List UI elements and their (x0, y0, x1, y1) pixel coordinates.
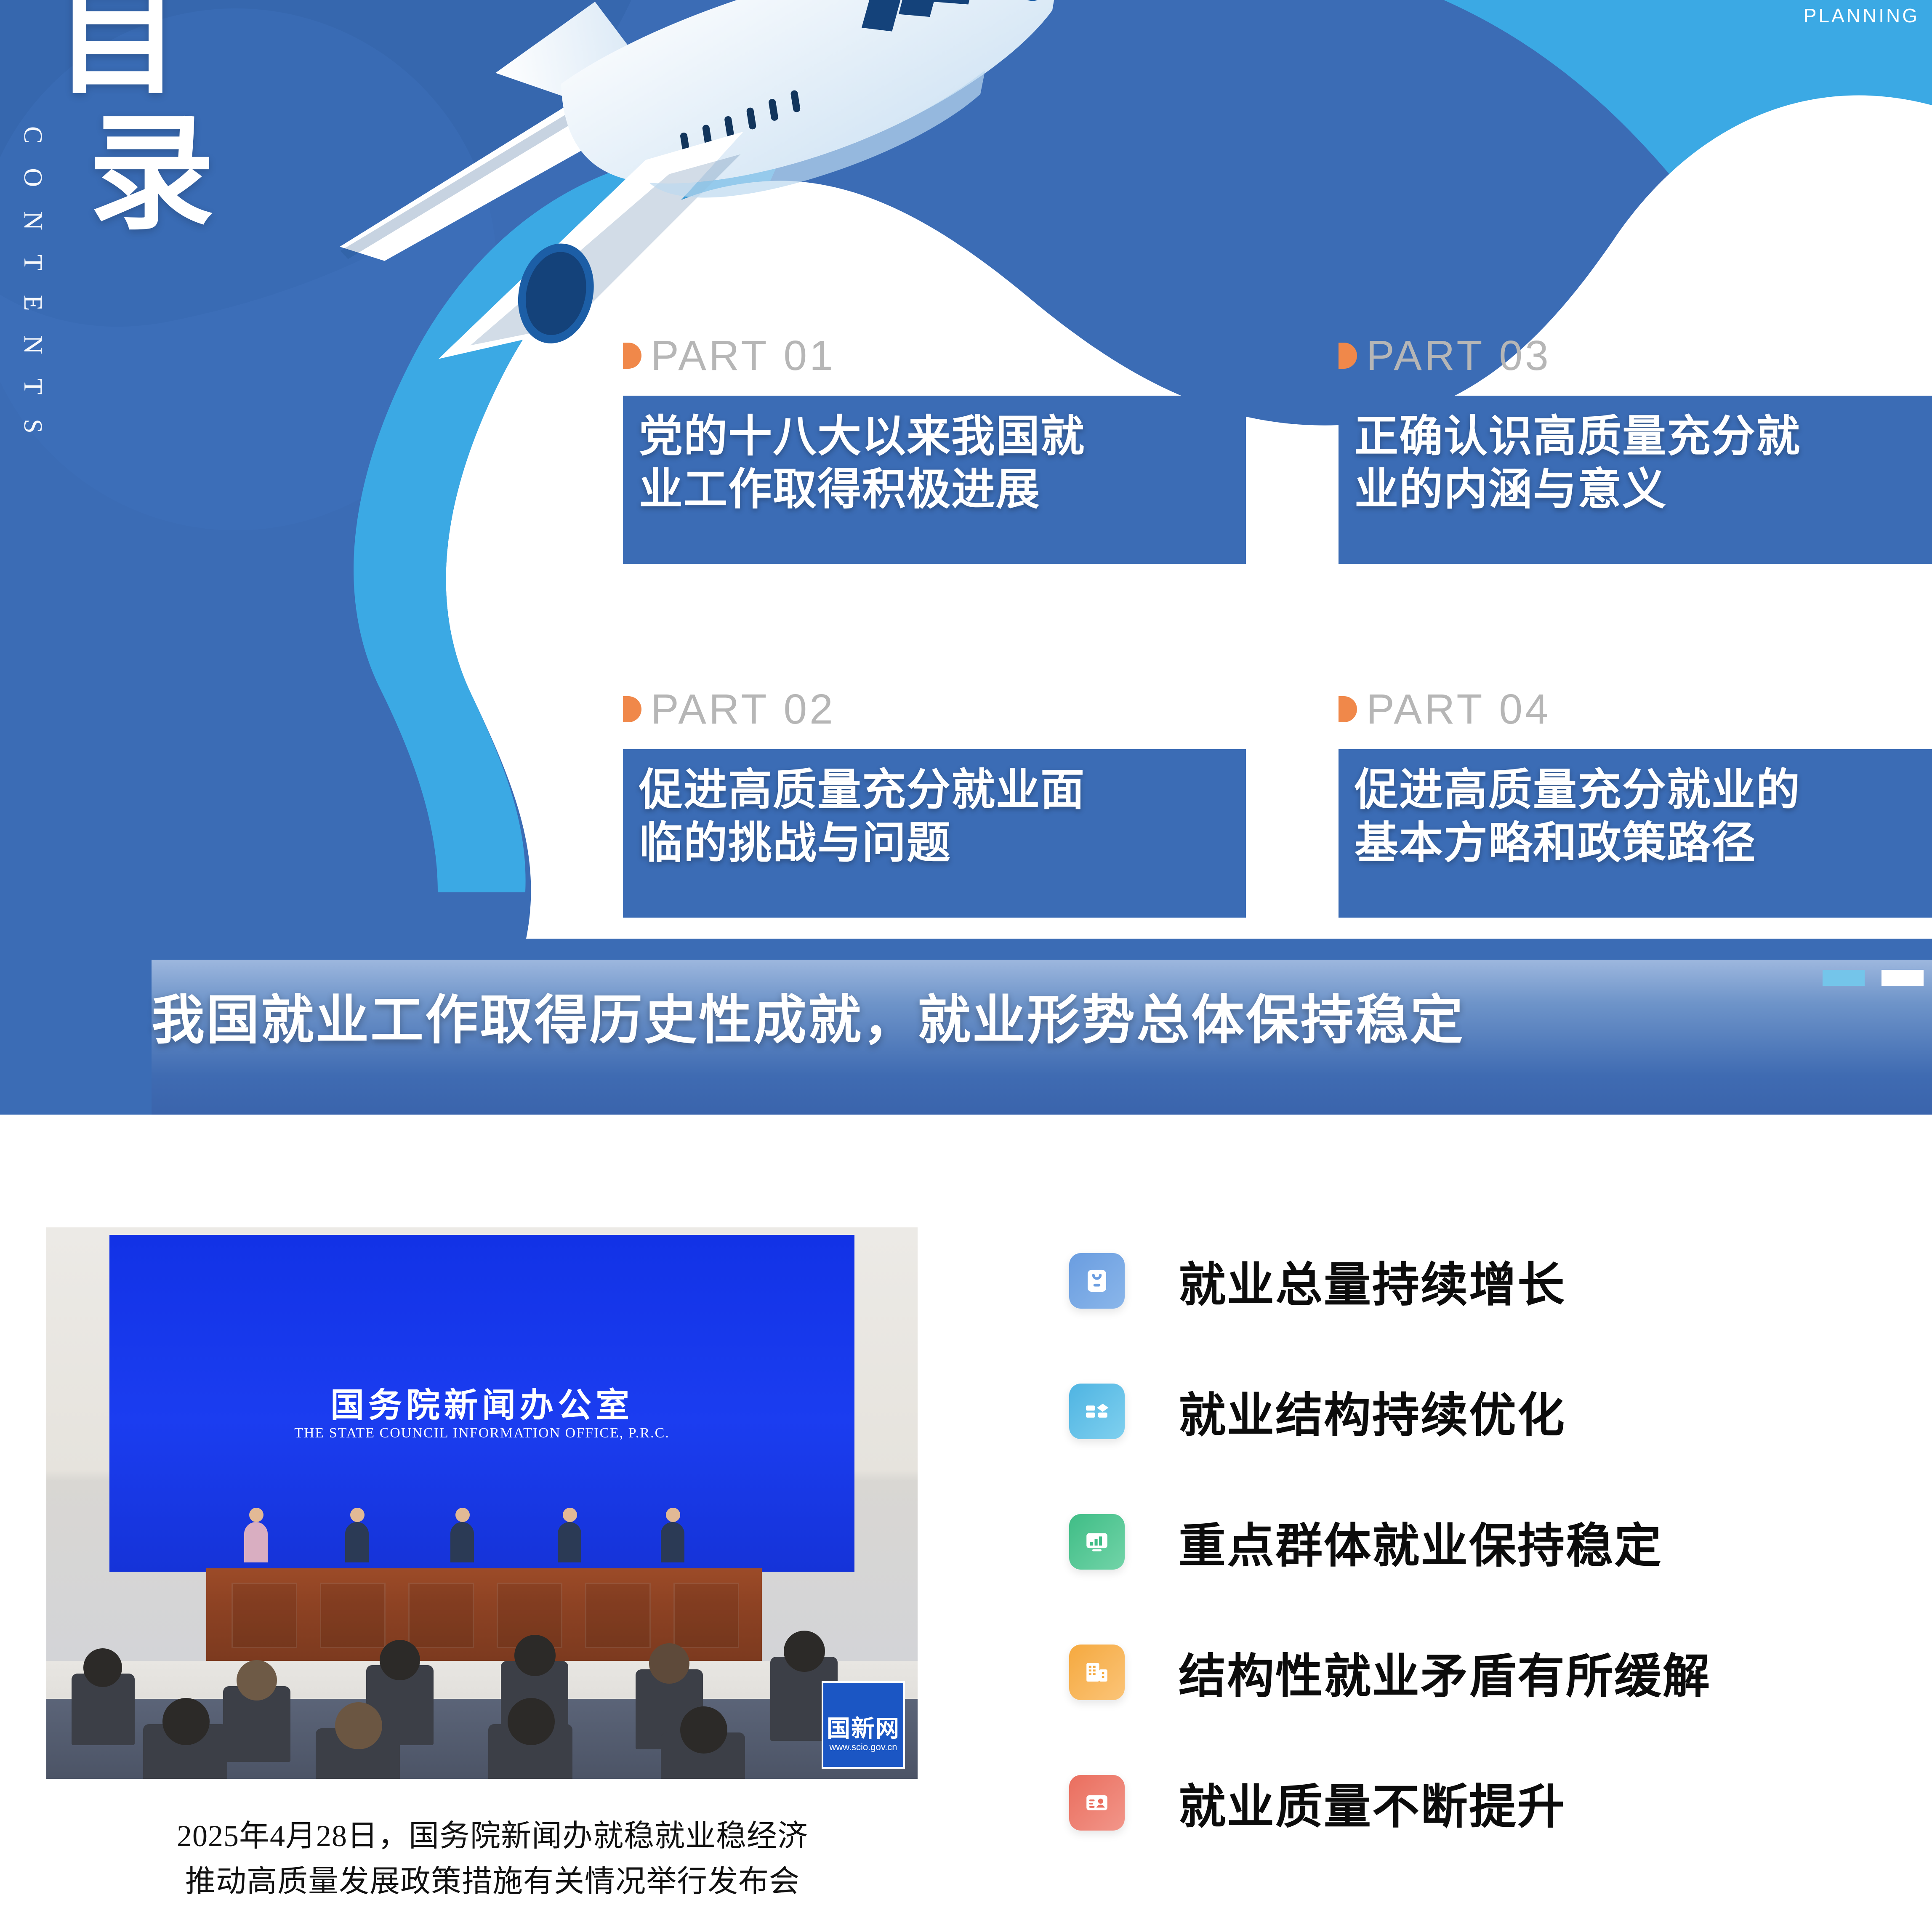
toc-part-03-title: 正确认识高质量充分就 业的内涵与意义 (1355, 410, 1932, 516)
bar-chart-icon (1069, 1514, 1125, 1570)
photo-caption: 2025年4月28日，国务院新闻办就稳就业稳经济 推动高质量发展政策措施有关情况… (51, 1813, 934, 1904)
photo-led-screen: 国务院新闻办公室 THE STATE COUNCIL INFORMATION O… (109, 1235, 854, 1572)
list-item[interactable]: 就业结构持续优化 (1069, 1346, 1869, 1477)
planning-corner-label: PLANNING (1804, 4, 1919, 27)
list-item-label: 就业总量持续增长 (1179, 1247, 1566, 1315)
bullet-marker-icon (1339, 343, 1357, 369)
screen-title-en: THE STATE COUNCIL INFORMATION OFFICE, P.… (109, 1425, 854, 1441)
building-icon (1069, 1645, 1125, 1700)
banner-title: 我国就业工作取得历史性成就，就业形势总体保持稳定 (152, 977, 1465, 1054)
photo-panelist (244, 1522, 268, 1562)
toc-part-04-title: 促进高质量充分就业的 基本方略和政策路径 (1355, 764, 1932, 870)
list-item[interactable]: 结构性就业矛盾有所缓解 (1069, 1607, 1869, 1738)
photo-panelist (450, 1522, 474, 1562)
bullet-marker-icon (623, 696, 641, 722)
toc-heading-char-1: 目 (55, 0, 282, 101)
list-item-label: 重点群体就业保持稳定 (1179, 1508, 1663, 1576)
photo-audience-head (380, 1640, 420, 1680)
list-item[interactable]: 就业总量持续增长 (1069, 1216, 1869, 1346)
toc-part-03-label: PART03 (1366, 332, 1551, 380)
toc-part-04[interactable]: PART04 促进高质量充分就业的 基本方略和政策路径 (1339, 686, 1932, 918)
photo-caption-line-1: 2025年4月28日，国务院新闻办就稳就业稳经济 (51, 1813, 934, 1859)
list-item[interactable]: 就业质量不断提升 (1069, 1738, 1869, 1868)
toc-part-01-header: PART01 (623, 333, 1254, 379)
photo-audience-head (162, 1698, 210, 1745)
photo-caption-line-2: 推动高质量发展政策措施有关情况举行发布会 (51, 1859, 934, 1904)
contact-card-icon (1069, 1775, 1125, 1831)
toc-part-03-box[interactable]: 正确认识高质量充分就 业的内涵与意义 (1339, 396, 1932, 564)
contents-vertical-label: CONTENTS (18, 126, 48, 458)
layers-grid-icon (1069, 1384, 1125, 1439)
toc-part-01-title: 党的十八大以来我国就 业工作取得积极进展 (639, 410, 1230, 516)
toc-part-02[interactable]: PART02 促进高质量充分就业面 临的挑战与问题 (623, 686, 1254, 918)
toc-part-01-label: PART01 (651, 332, 836, 380)
photo-panelist (661, 1522, 684, 1562)
list-item-label: 就业结构持续优化 (1179, 1377, 1566, 1445)
list-item[interactable]: 重点群体就业保持稳定 (1069, 1477, 1869, 1607)
toc-part-04-box[interactable]: 促进高质量充分就业的 基本方略和政策路径 (1339, 749, 1932, 918)
toc-part-01-box[interactable]: 党的十八大以来我国就 业工作取得积极进展 (623, 396, 1246, 564)
toc-part-03-header: PART03 (1339, 333, 1932, 379)
toc-part-02-title: 促进高质量充分就业面 临的挑战与问题 (639, 764, 1230, 870)
toc-part-02-box[interactable]: 促进高质量充分就业面 临的挑战与问题 (623, 749, 1246, 918)
id-card-icon (1069, 1253, 1125, 1309)
toc-part-02-label: PART02 (651, 685, 836, 734)
bullet-marker-icon (623, 343, 641, 369)
screen-title-cn: 国务院新闻办公室 (109, 1378, 854, 1427)
scio-watermark: 国新网 www.scio.gov.cn (822, 1681, 905, 1769)
toc-heading: 目 录 (63, 0, 282, 278)
presentation-page: 目 录 CONTENTS PLANNING PART01 党的十八大以来我国就 … (0, 0, 1932, 1932)
banner-left-block (0, 960, 152, 1115)
photo-audience-head (237, 1660, 277, 1700)
watermark-text-cn: 国新网 (823, 1710, 903, 1744)
section-banner: 我国就业工作取得历史性成就，就业形势总体保持稳定 (0, 960, 1932, 1115)
photo-panelist (558, 1522, 581, 1562)
toc-heading-char-2: 录 (88, 110, 282, 237)
list-item-label: 就业质量不断提升 (1179, 1769, 1566, 1837)
photo-panelist (345, 1522, 369, 1562)
toc-part-04-label: PART04 (1366, 685, 1551, 734)
banner-marker-blue (1823, 970, 1865, 986)
toc-part-03[interactable]: PART03 正确认识高质量充分就 业的内涵与意义 (1339, 333, 1932, 564)
table-of-contents-slide: 目 录 CONTENTS PLANNING PART01 党的十八大以来我国就 … (0, 0, 1932, 1115)
highlights-list: 就业总量持续增长 就业结构持续优化 (1069, 1216, 1869, 1868)
toc-part-01[interactable]: PART01 党的十八大以来我国就 业工作取得积极进展 (623, 333, 1254, 564)
photo-audience-head (514, 1635, 556, 1676)
banner-marker-white (1881, 970, 1924, 986)
photo-audience-head (649, 1643, 689, 1684)
toc-part-04-header: PART04 (1339, 686, 1932, 732)
content-slide: 国务院新闻办公室 THE STATE COUNCIL INFORMATION O… (0, 1115, 1932, 1932)
press-conference-photo: 国务院新闻办公室 THE STATE COUNCIL INFORMATION O… (46, 1227, 918, 1779)
bullet-marker-icon (1339, 696, 1357, 722)
photo-audience-head (784, 1631, 825, 1672)
toc-part-02-header: PART02 (623, 686, 1254, 732)
photo-audience-head (508, 1698, 555, 1745)
photo-audience-head (335, 1702, 382, 1749)
photo-audience-head (680, 1706, 727, 1754)
list-item-label: 结构性就业矛盾有所缓解 (1179, 1638, 1711, 1706)
photo-audience-head (83, 1648, 122, 1687)
watermark-url: www.scio.gov.cn (823, 1742, 903, 1753)
